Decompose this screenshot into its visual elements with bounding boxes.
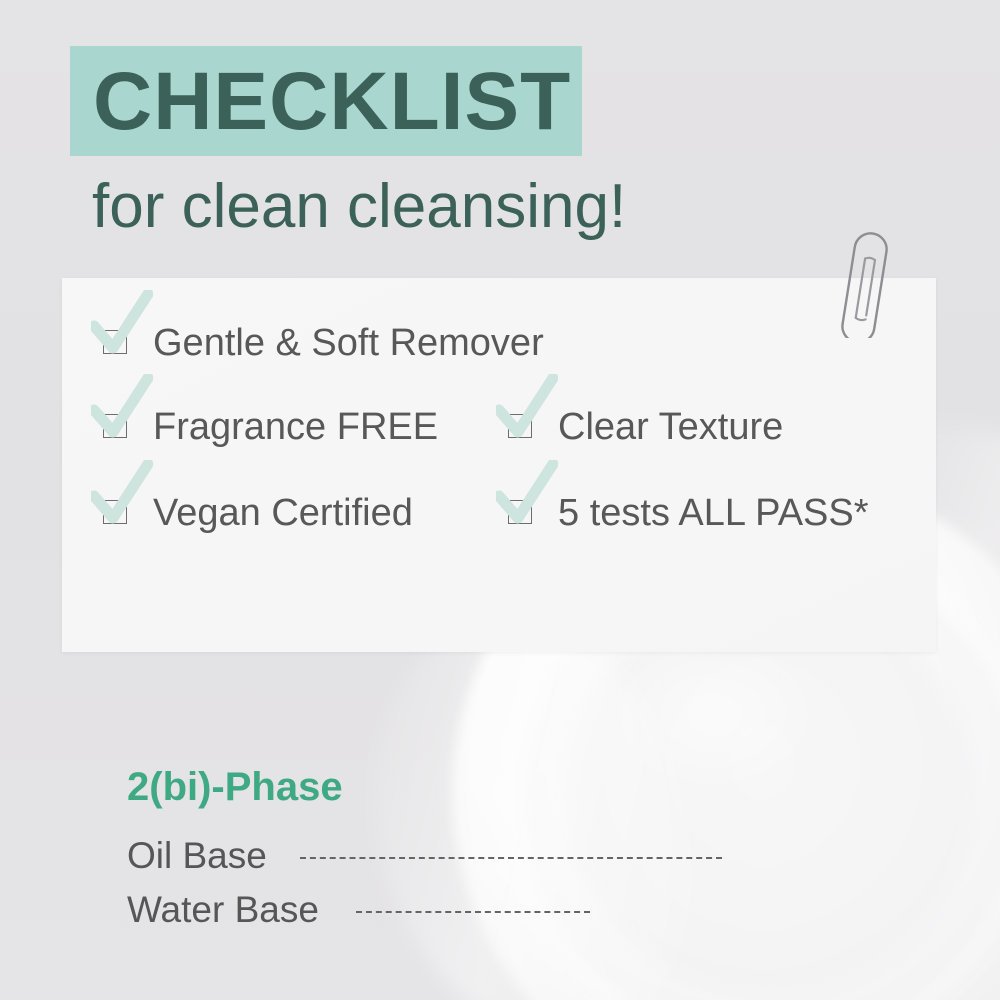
checklist-item-vegan-certified[interactable]: Vegan Certified: [103, 493, 413, 533]
checkbox-checked[interactable]: [508, 500, 534, 526]
phase-label-oil-base: Oil Base: [127, 834, 267, 878]
checklist-card: Gentle & Soft Remover Fragrance FREE: [62, 278, 936, 652]
checkbox-box: [103, 414, 127, 438]
phase-heading: 2(bi)-Phase: [127, 763, 343, 811]
highlight-swirl-left: [340, 593, 721, 1000]
paperclip-icon: [824, 218, 896, 338]
checklist-item-label: 5 tests ALL PASS*: [558, 493, 869, 533]
page-title: CHECKLIST: [93, 48, 571, 156]
checkbox-box: [508, 414, 532, 438]
phase-label-water-base: Water Base: [127, 888, 319, 932]
page-subtitle: for clean cleansing!: [92, 168, 626, 246]
checkbox-checked[interactable]: [103, 414, 129, 440]
checkbox-checked[interactable]: [508, 414, 534, 440]
checklist-item-label: Clear Texture: [558, 407, 783, 447]
checkbox-box: [103, 330, 127, 354]
checklist-item-clear-texture[interactable]: Clear Texture: [508, 407, 783, 447]
checklist-item-label: Gentle & Soft Remover: [153, 323, 544, 363]
checkbox-checked[interactable]: [103, 330, 129, 356]
poster-canvas: CHECKLIST for clean cleansing! Gentle & …: [0, 0, 1000, 1000]
checklist-item-5-tests-all-pass[interactable]: 5 tests ALL PASS*: [508, 493, 869, 533]
phase-dashed-line-oil: [300, 857, 722, 859]
checkbox-checked[interactable]: [103, 500, 129, 526]
checkbox-box: [508, 500, 532, 524]
phase-dashed-line-water: [356, 911, 590, 913]
checklist-item-fragrance-free[interactable]: Fragrance FREE: [103, 407, 438, 447]
jar-gloss-highlight: [600, 630, 830, 800]
checkbox-box: [103, 500, 127, 524]
checklist-item-label: Vegan Certified: [153, 493, 413, 533]
checklist-item-label: Fragrance FREE: [153, 407, 438, 447]
checklist-item-gentle-soft-remover[interactable]: Gentle & Soft Remover: [103, 323, 544, 363]
